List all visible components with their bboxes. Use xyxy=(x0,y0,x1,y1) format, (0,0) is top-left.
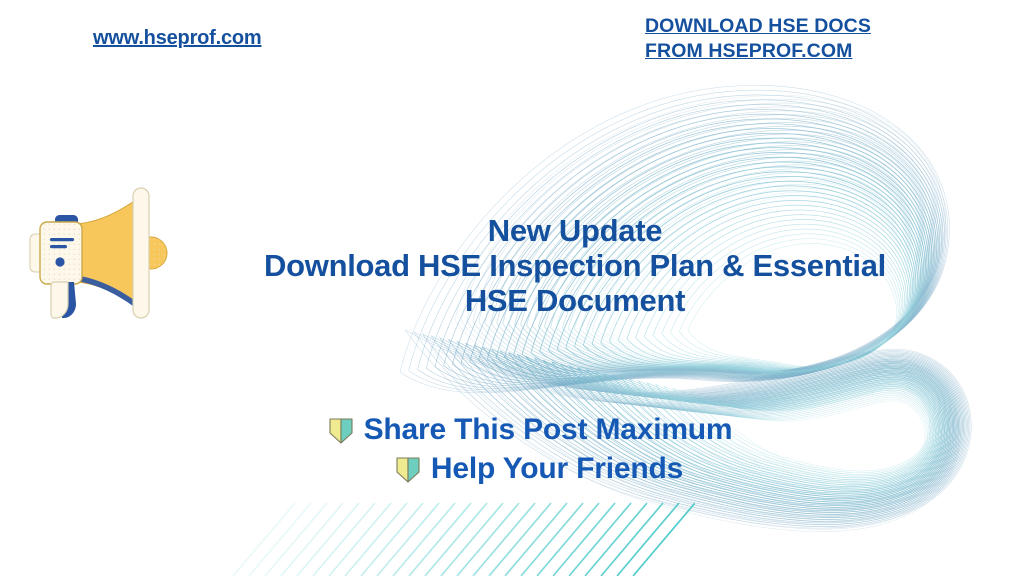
beginner-badge-icon xyxy=(328,416,354,444)
cta-line-1[interactable]: DOWNLOAD HSE DOCS xyxy=(645,14,871,39)
share-text-1: Share This Post Maximum xyxy=(364,410,733,449)
share-line-2: Help Your Friends xyxy=(180,449,880,488)
beginner-badge-icon xyxy=(395,455,421,483)
headline-line-2: Download HSE Inspection Plan & Essential xyxy=(180,248,970,283)
headline-line-3: HSE Document xyxy=(180,283,970,318)
promo-banner-canvas: www.hseprof.com DOWNLOAD HSE DOCS FROM H… xyxy=(0,0,1024,576)
share-text-2: Help Your Friends xyxy=(431,449,683,488)
headline-line-1: New Update xyxy=(180,213,970,248)
site-url-link[interactable]: www.hseprof.com xyxy=(93,27,262,50)
share-call-to-action: Share This Post Maximum Help Your Friend… xyxy=(180,410,880,488)
cta-line-2[interactable]: FROM HSEPROF.COM xyxy=(645,39,871,64)
megaphone-icon xyxy=(18,178,183,328)
share-line-1: Share This Post Maximum xyxy=(180,410,880,449)
diagonal-stripe-pattern xyxy=(225,495,695,576)
headline: New Update Download HSE Inspection Plan … xyxy=(180,213,970,318)
download-cta-link[interactable]: DOWNLOAD HSE DOCS FROM HSEPROF.COM xyxy=(645,14,871,64)
